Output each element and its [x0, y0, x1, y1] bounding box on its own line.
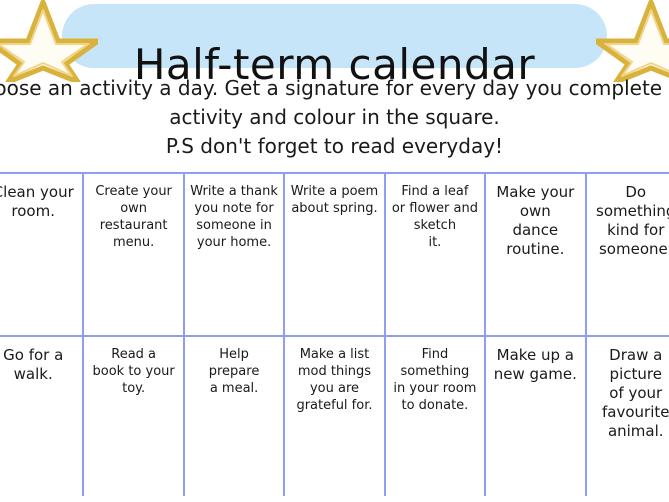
gold-star-right-icon	[596, 0, 669, 82]
calendar-cell[interactable]: Write a poem about spring.	[285, 174, 385, 335]
calendar-cell[interactable]: Find a leaf or flower and sketch it.	[386, 174, 486, 335]
calendar-row: Clean your room. Create your own restaur…	[0, 174, 669, 335]
calendar-row: Go for a walk. Read a book to your toy. …	[0, 335, 669, 496]
calendar-cell[interactable]: Write a thank you note for someone in yo…	[185, 174, 285, 335]
calendar-cell[interactable]: Make up a new game.	[486, 337, 586, 496]
calendar-cell[interactable]: Go for a walk.	[0, 337, 84, 496]
instructions-line-2: activity and colour in the square.	[0, 103, 669, 132]
instructions-line-3: P.S don't forget to read everyday!	[0, 132, 669, 161]
half-term-calendar-page: Half-term calendar Choose an activity a …	[0, 0, 669, 502]
calendar-cell[interactable]: Make a list mod things you are grateful …	[285, 337, 385, 496]
calendar-cell[interactable]: Create your own restaurant menu.	[84, 174, 184, 335]
calendar-grid: Clean your room. Create your own restaur…	[0, 172, 669, 494]
instructions-block: Choose an activity a day. Get a signatur…	[0, 74, 669, 161]
calendar-cell[interactable]: Clean your room.	[0, 174, 84, 335]
gold-star-left-icon	[0, 0, 98, 82]
calendar-cell[interactable]: Draw a picture of your favourite animal.	[587, 337, 669, 496]
instructions-line-1: Choose an activity a day. Get a signatur…	[0, 74, 669, 103]
calendar-cell[interactable]: Find something in your room to donate.	[386, 337, 486, 496]
header-band: Half-term calendar	[0, 0, 669, 75]
calendar-cell[interactable]: Do something kind for someone.	[587, 174, 669, 335]
calendar-cell[interactable]: Read a book to your toy.	[84, 337, 184, 496]
calendar-cell[interactable]: Make your own dance routine.	[486, 174, 586, 335]
calendar-cell[interactable]: Help prepare a meal.	[185, 337, 285, 496]
